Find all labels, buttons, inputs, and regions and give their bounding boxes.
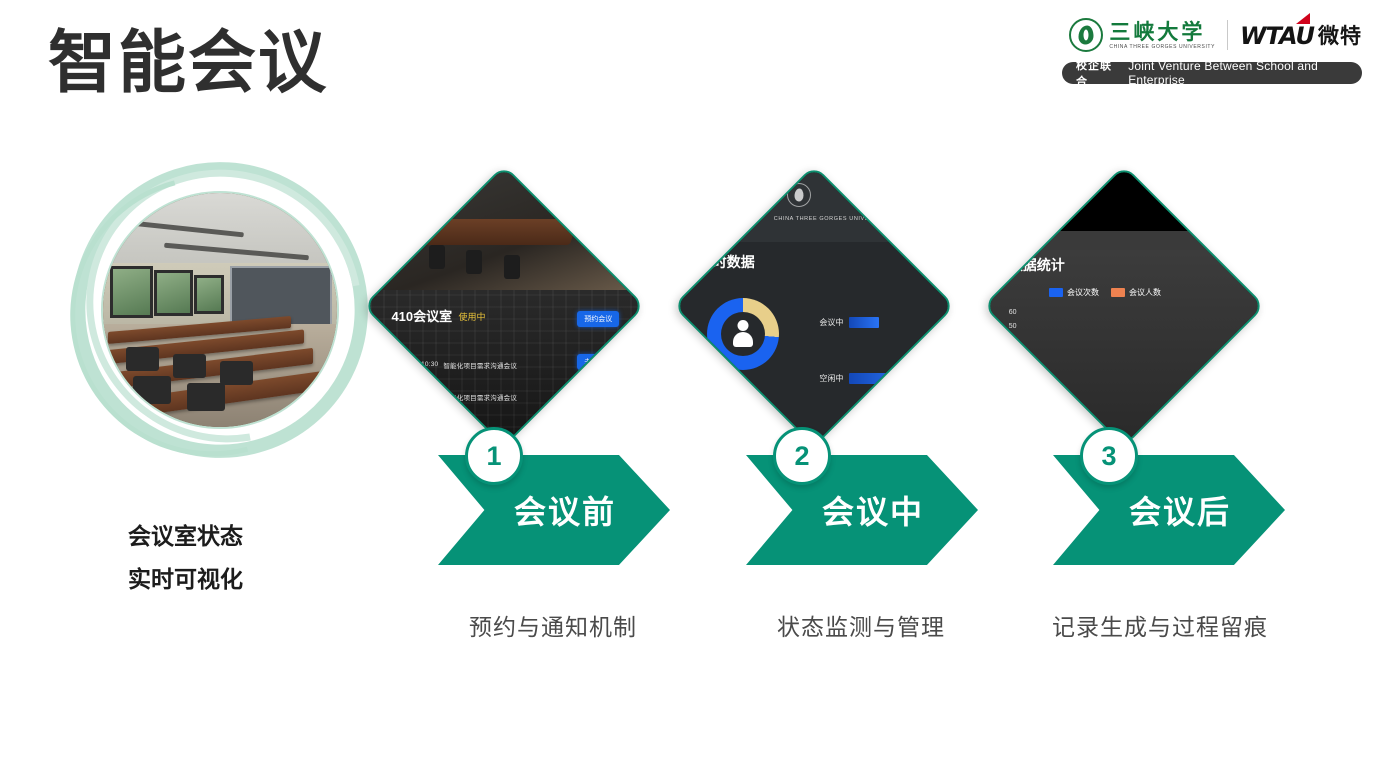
panel-booking-photo xyxy=(370,172,638,290)
realtime-bar-idle: 空闲中 xyxy=(819,373,911,384)
slide-root: 智能会议 三峡大学 CHINA THREE GORGES UNIVERSITY … xyxy=(0,0,1392,781)
brand-divider xyxy=(1227,20,1228,50)
company-name-cn: 微特 xyxy=(1318,20,1362,50)
joint-venture-label-en: Joint Venture Between School and Enterpr… xyxy=(1128,59,1348,87)
attendance-button-1[interactable]: 未录人数 xyxy=(577,354,619,370)
panel-booking[interactable]: 410会议室 使用中 09:00-10:30 智能化项目需求沟通会议 13:00… xyxy=(363,165,646,448)
legend-item-attendees: 会议人数 xyxy=(1111,287,1161,298)
y-tick-1: 50 xyxy=(1009,323,1017,330)
occupancy-donut-chart xyxy=(707,298,779,370)
legend-label-attendees: 会议人数 xyxy=(1129,287,1161,298)
schedule-time-2: 13:00-14:30 xyxy=(401,393,438,400)
schedule-dot-icon xyxy=(391,394,396,399)
step-number-2: 2 xyxy=(773,427,831,485)
schedule-row: 13:00-14:30 智能化项目需求沟通会议 xyxy=(391,392,517,402)
statistics-legend: 会议次数 会议人数 xyxy=(1049,287,1161,298)
panel-statistics-header xyxy=(990,172,1258,231)
university-logo: 三峡大学 CHINA THREE GORGES UNIVERSITY xyxy=(1069,18,1215,52)
joint-venture-badge: 校企联合 Joint Venture Between School and En… xyxy=(1062,62,1362,84)
statistics-title: 数据统计 xyxy=(1009,255,1065,275)
attendance-button-2[interactable]: 未录人数 xyxy=(577,389,619,405)
room-name: 410会议室 xyxy=(391,306,452,325)
panel-realtime-content: CHINA THREE GORGES UNIVERSITY 实时数据 会议中 空… xyxy=(680,172,948,440)
realtime-footer-label: 参会人数 xyxy=(701,424,733,435)
panel-university-emblem-icon xyxy=(787,183,811,207)
panel-university-name-en: CHINA THREE GORGES UNIVERSITY xyxy=(774,216,888,222)
university-names: 三峡大学 CHINA THREE GORGES UNIVERSITY xyxy=(1109,21,1215,50)
step-caption-1: 预约与通知机制 xyxy=(403,608,703,642)
bar-label-idle: 空闲中 xyxy=(819,373,843,384)
y-tick-2: 40 xyxy=(1009,337,1017,344)
brand-block: 三峡大学 CHINA THREE GORGES UNIVERSITY WTAU … xyxy=(1062,14,1362,84)
realtime-title: 实时数据 xyxy=(699,252,755,272)
step-number-3: 3 xyxy=(1080,427,1138,485)
panel-realtime-header: CHINA THREE GORGES UNIVERSITY xyxy=(680,172,948,242)
panel-realtime[interactable]: CHINA THREE GORGES UNIVERSITY 实时数据 会议中 空… xyxy=(673,165,956,448)
legend-label-meetings: 会议次数 xyxy=(1067,287,1099,298)
meeting-room-illustration xyxy=(103,193,337,427)
legend-item-meetings: 会议次数 xyxy=(1049,287,1099,298)
bar-fill-idle xyxy=(849,373,911,384)
company-flag-icon xyxy=(1296,13,1310,24)
step-caption-2: 状态监测与管理 xyxy=(711,608,1011,642)
meeting-room-photo xyxy=(103,193,337,427)
schedule-time-1: 09:00-10:30 xyxy=(401,361,438,368)
y-tick-0: 60 xyxy=(1009,309,1017,316)
company-logo: WTAU 微特 xyxy=(1240,20,1362,50)
book-meeting-button[interactable]: 预约会议 xyxy=(577,311,619,327)
schedule-title-2: 智能化项目需求沟通会议 xyxy=(443,392,517,402)
realtime-bar-in-meeting: 会议中 xyxy=(819,317,879,328)
university-name-en: CHINA THREE GORGES UNIVERSITY xyxy=(1109,45,1215,50)
page-title: 智能会议 xyxy=(48,28,328,99)
panel-statistics[interactable]: 数据统计 会议次数 会议人数 60 50 40 30 xyxy=(983,165,1266,448)
statistics-bars xyxy=(1033,322,1245,435)
company-name-en: WTAU xyxy=(1240,22,1314,50)
step-label-2: 会议中 xyxy=(822,487,924,533)
legend-swatch-attendees xyxy=(1111,288,1125,297)
university-emblem-icon xyxy=(1069,18,1103,52)
panel-booking-content: 410会议室 使用中 09:00-10:30 智能化项目需求沟通会议 13:00… xyxy=(370,172,638,440)
joint-venture-label-cn: 校企联合 xyxy=(1076,57,1118,89)
panel-statistics-strip xyxy=(990,231,1258,250)
hero-photo-wrap xyxy=(75,165,365,455)
legend-swatch-meetings xyxy=(1049,288,1063,297)
brand-logos-row: 三峡大学 CHINA THREE GORGES UNIVERSITY WTAU … xyxy=(1062,14,1362,56)
hero-caption-line1: 会议室状态 xyxy=(128,516,358,559)
step-caption-3: 记录生成与过程留痕 xyxy=(1010,608,1310,642)
schedule-title-1: 智能化项目需求沟通会议 xyxy=(443,360,517,370)
room-status-badge: 使用中 xyxy=(458,310,485,323)
person-icon xyxy=(730,320,756,348)
schedule-row: 09:00-10:30 智能化项目需求沟通会议 xyxy=(391,360,517,370)
university-name-cn: 三峡大学 xyxy=(1109,21,1215,42)
step-number-1: 1 xyxy=(465,427,523,485)
hero-caption-line2: 实时可视化 xyxy=(128,559,358,602)
hero-caption: 会议室状态 实时可视化 xyxy=(128,516,358,601)
step-label-1: 会议前 xyxy=(514,487,616,533)
y-tick-3: 30 xyxy=(1009,351,1017,358)
statistics-y-axis: 60 50 40 30 xyxy=(1009,309,1017,358)
panel-statistics-content: 数据统计 会议次数 会议人数 60 50 40 30 xyxy=(990,172,1258,440)
bar-fill-in-meeting xyxy=(849,317,879,328)
schedule-dot-icon xyxy=(391,362,396,367)
bar-label-in-meeting: 会议中 xyxy=(819,317,843,328)
step-label-3: 会议后 xyxy=(1129,487,1231,533)
